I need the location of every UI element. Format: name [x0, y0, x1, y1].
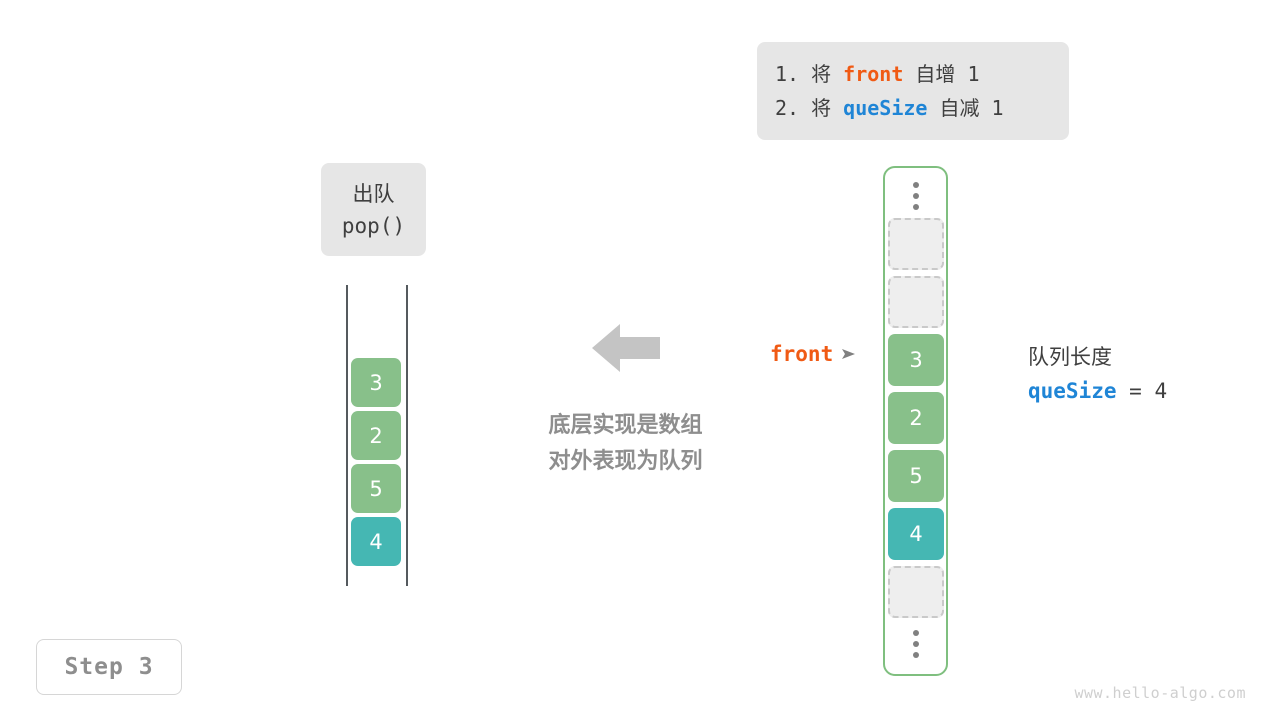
instruction-2-keyword: queSize — [843, 96, 927, 120]
queue-size-title: 队列长度 — [1028, 340, 1167, 374]
queue-wall-right — [406, 285, 408, 586]
array-ellipsis-icon — [913, 630, 919, 658]
diagram-caption: 底层实现是数组 对外表现为队列 — [508, 408, 743, 480]
array-container: 3254 — [883, 166, 948, 676]
queue-wall-left — [346, 285, 348, 586]
queue-size-value: 4 — [1154, 379, 1167, 403]
instruction-line-2: 2. 将 queSize 自减 1 — [775, 91, 1069, 125]
instruction-2-prefix: 2. 将 — [775, 96, 843, 120]
pop-label-title: 出队 — [353, 178, 395, 210]
instruction-line-1: 1. 将 front 自增 1 — [775, 57, 1069, 91]
queue-cell: 4 — [351, 517, 401, 566]
front-pointer-label: front — [770, 342, 833, 366]
array-empty-slot — [888, 276, 944, 328]
queue-cell: 2 — [351, 411, 401, 460]
instruction-1-keyword: front — [843, 62, 903, 86]
diagram-canvas: 1. 将 front 自增 1 2. 将 queSize 自减 1 出队 pop… — [0, 0, 1280, 720]
queue-size-expression: queSize = 4 — [1028, 374, 1167, 408]
instructions-callout: 1. 将 front 自增 1 2. 将 queSize 自减 1 — [757, 42, 1069, 140]
queue-cell: 3 — [351, 358, 401, 407]
pop-label-method: pop() — [342, 210, 405, 242]
array-ellipsis-icon — [913, 182, 919, 210]
array-slot: 3 — [888, 334, 944, 386]
caption-line-1: 底层实现是数组 — [508, 408, 743, 444]
instruction-2-suffix: 自减 1 — [927, 96, 1003, 120]
left-arrow-icon — [592, 320, 660, 376]
queue-size-equals: = — [1117, 379, 1155, 403]
array-empty-slot — [888, 566, 944, 618]
front-pointer: front — [770, 342, 857, 366]
pop-operation-label: 出队 pop() — [321, 163, 426, 256]
watermark: www.hello-algo.com — [1074, 684, 1246, 702]
array-slot: 4 — [888, 508, 944, 560]
front-pointer-arrow-icon — [841, 347, 857, 361]
caption-line-2: 对外表现为队列 — [508, 444, 743, 480]
array-slot: 5 — [888, 450, 944, 502]
array-empty-slot — [888, 218, 944, 270]
step-badge: Step 3 — [36, 639, 182, 695]
queue-size-label: 队列长度 queSize = 4 — [1028, 340, 1167, 408]
queue-cell: 5 — [351, 464, 401, 513]
instruction-1-suffix: 自增 1 — [903, 62, 979, 86]
queue-size-var: queSize — [1028, 379, 1117, 403]
array-slot: 2 — [888, 392, 944, 444]
instruction-1-prefix: 1. 将 — [775, 62, 843, 86]
